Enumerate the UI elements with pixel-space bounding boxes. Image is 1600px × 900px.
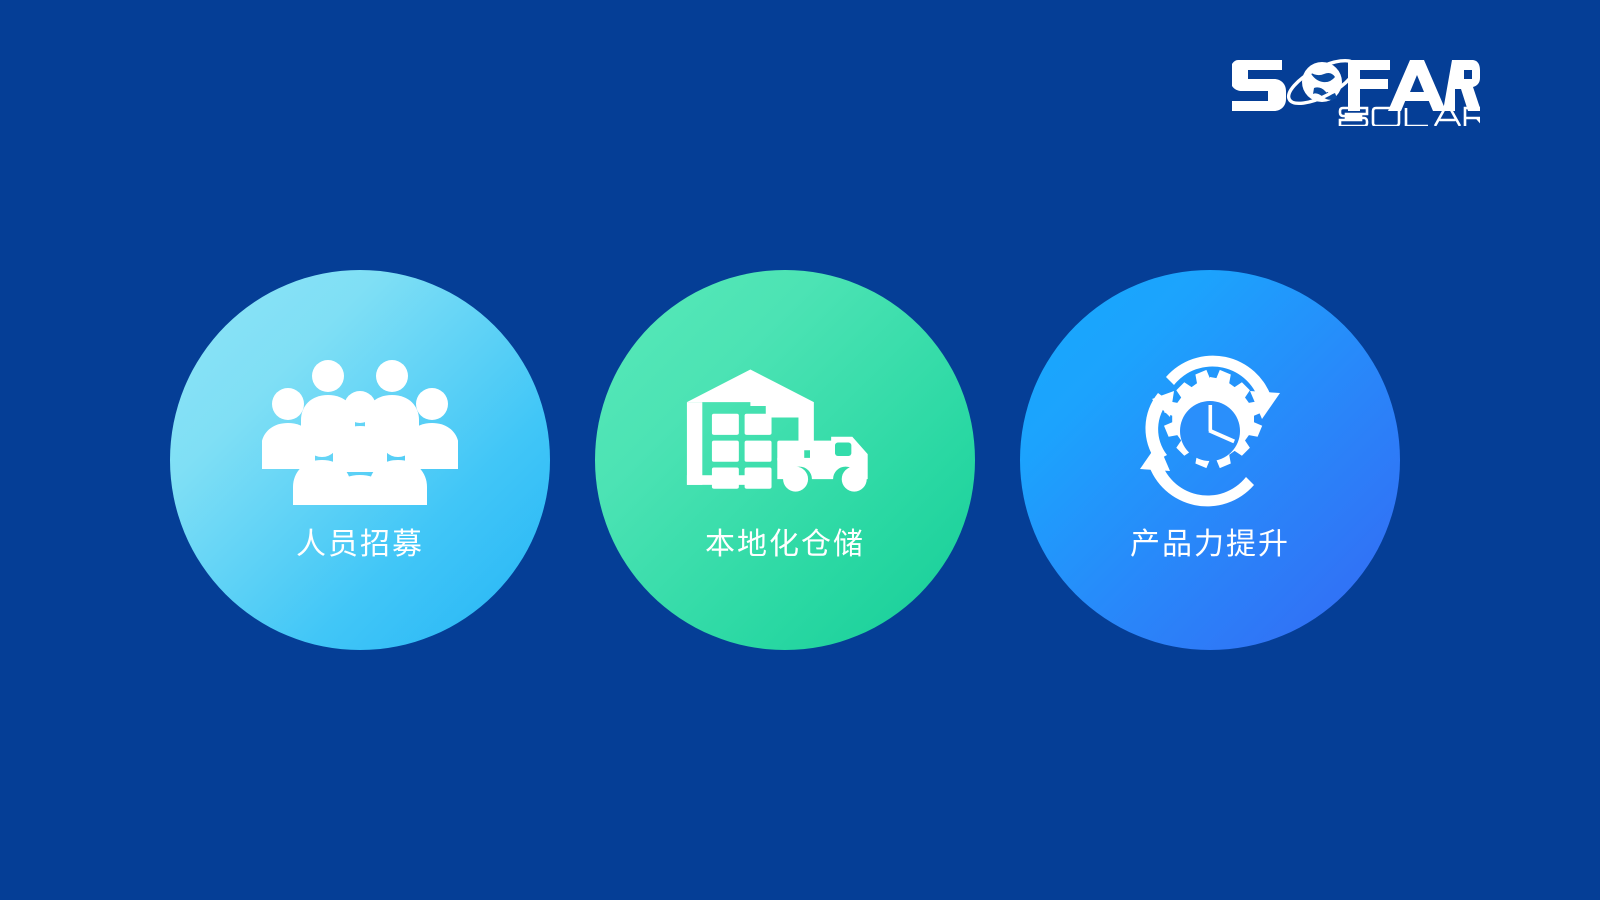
- feature-label-people: 人员招募: [296, 528, 424, 561]
- slide-canvas: 人员招募: [0, 0, 1600, 900]
- gear-clock-cycle-icon: [1110, 356, 1310, 506]
- feature-card-product[interactable]: 产品力提升: [1020, 270, 1400, 650]
- people-group-icon: [260, 356, 460, 506]
- feature-label-product: 产品力提升: [1130, 528, 1290, 561]
- feature-card-people[interactable]: 人员招募: [170, 270, 550, 650]
- feature-circle-row: 人员招募: [170, 270, 1400, 650]
- feature-card-warehouse[interactable]: 本地化仓储: [595, 270, 975, 650]
- warehouse-truck-icon: [685, 356, 885, 506]
- feature-label-warehouse: 本地化仓储: [705, 528, 865, 561]
- sofar-solar-logo: [1232, 48, 1480, 126]
